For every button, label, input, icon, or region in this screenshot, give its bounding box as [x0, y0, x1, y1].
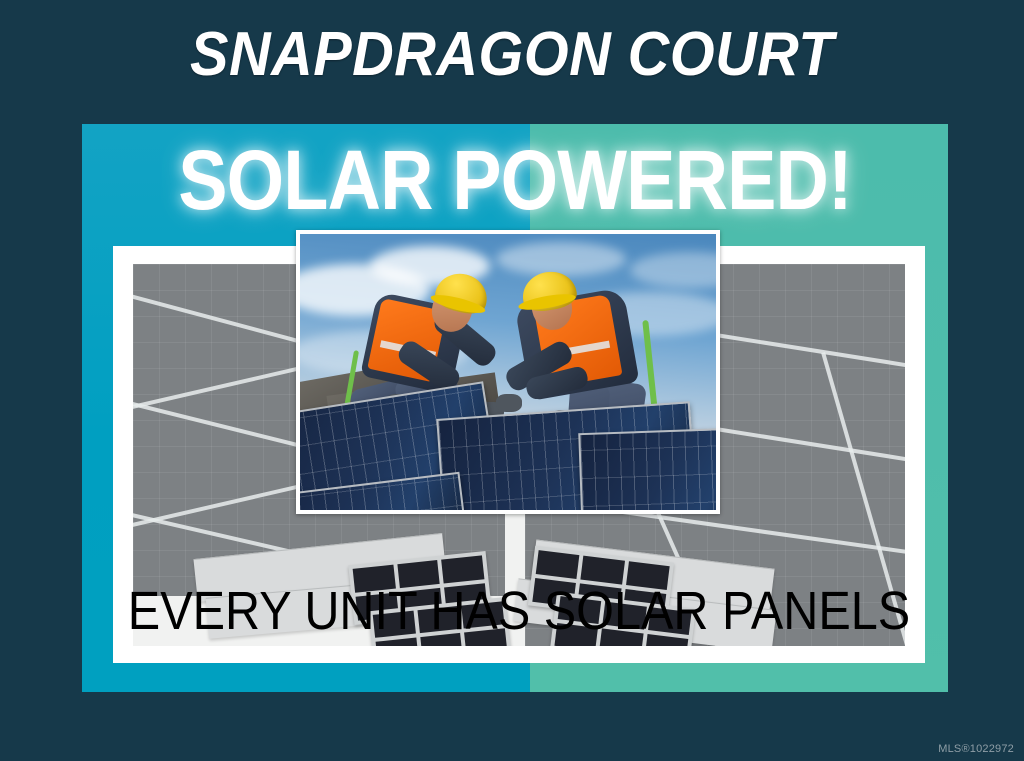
worker-photo-frame	[296, 230, 720, 514]
cloud	[496, 242, 626, 276]
worker-photo	[300, 234, 716, 510]
cloud	[630, 252, 716, 288]
card-caption: EVERY UNIT HAS SOLAR PANELS	[154, 572, 885, 650]
listing-photo-stage: SNAPDRAGON COURT	[0, 0, 1024, 761]
band-title: SOLAR POWERED!	[134, 132, 896, 228]
solar-panel	[578, 427, 716, 510]
mls-watermark: MLS®1022972	[938, 743, 1014, 755]
work-glove	[496, 394, 522, 412]
page-title: SNAPDRAGON COURT	[36, 4, 988, 104]
